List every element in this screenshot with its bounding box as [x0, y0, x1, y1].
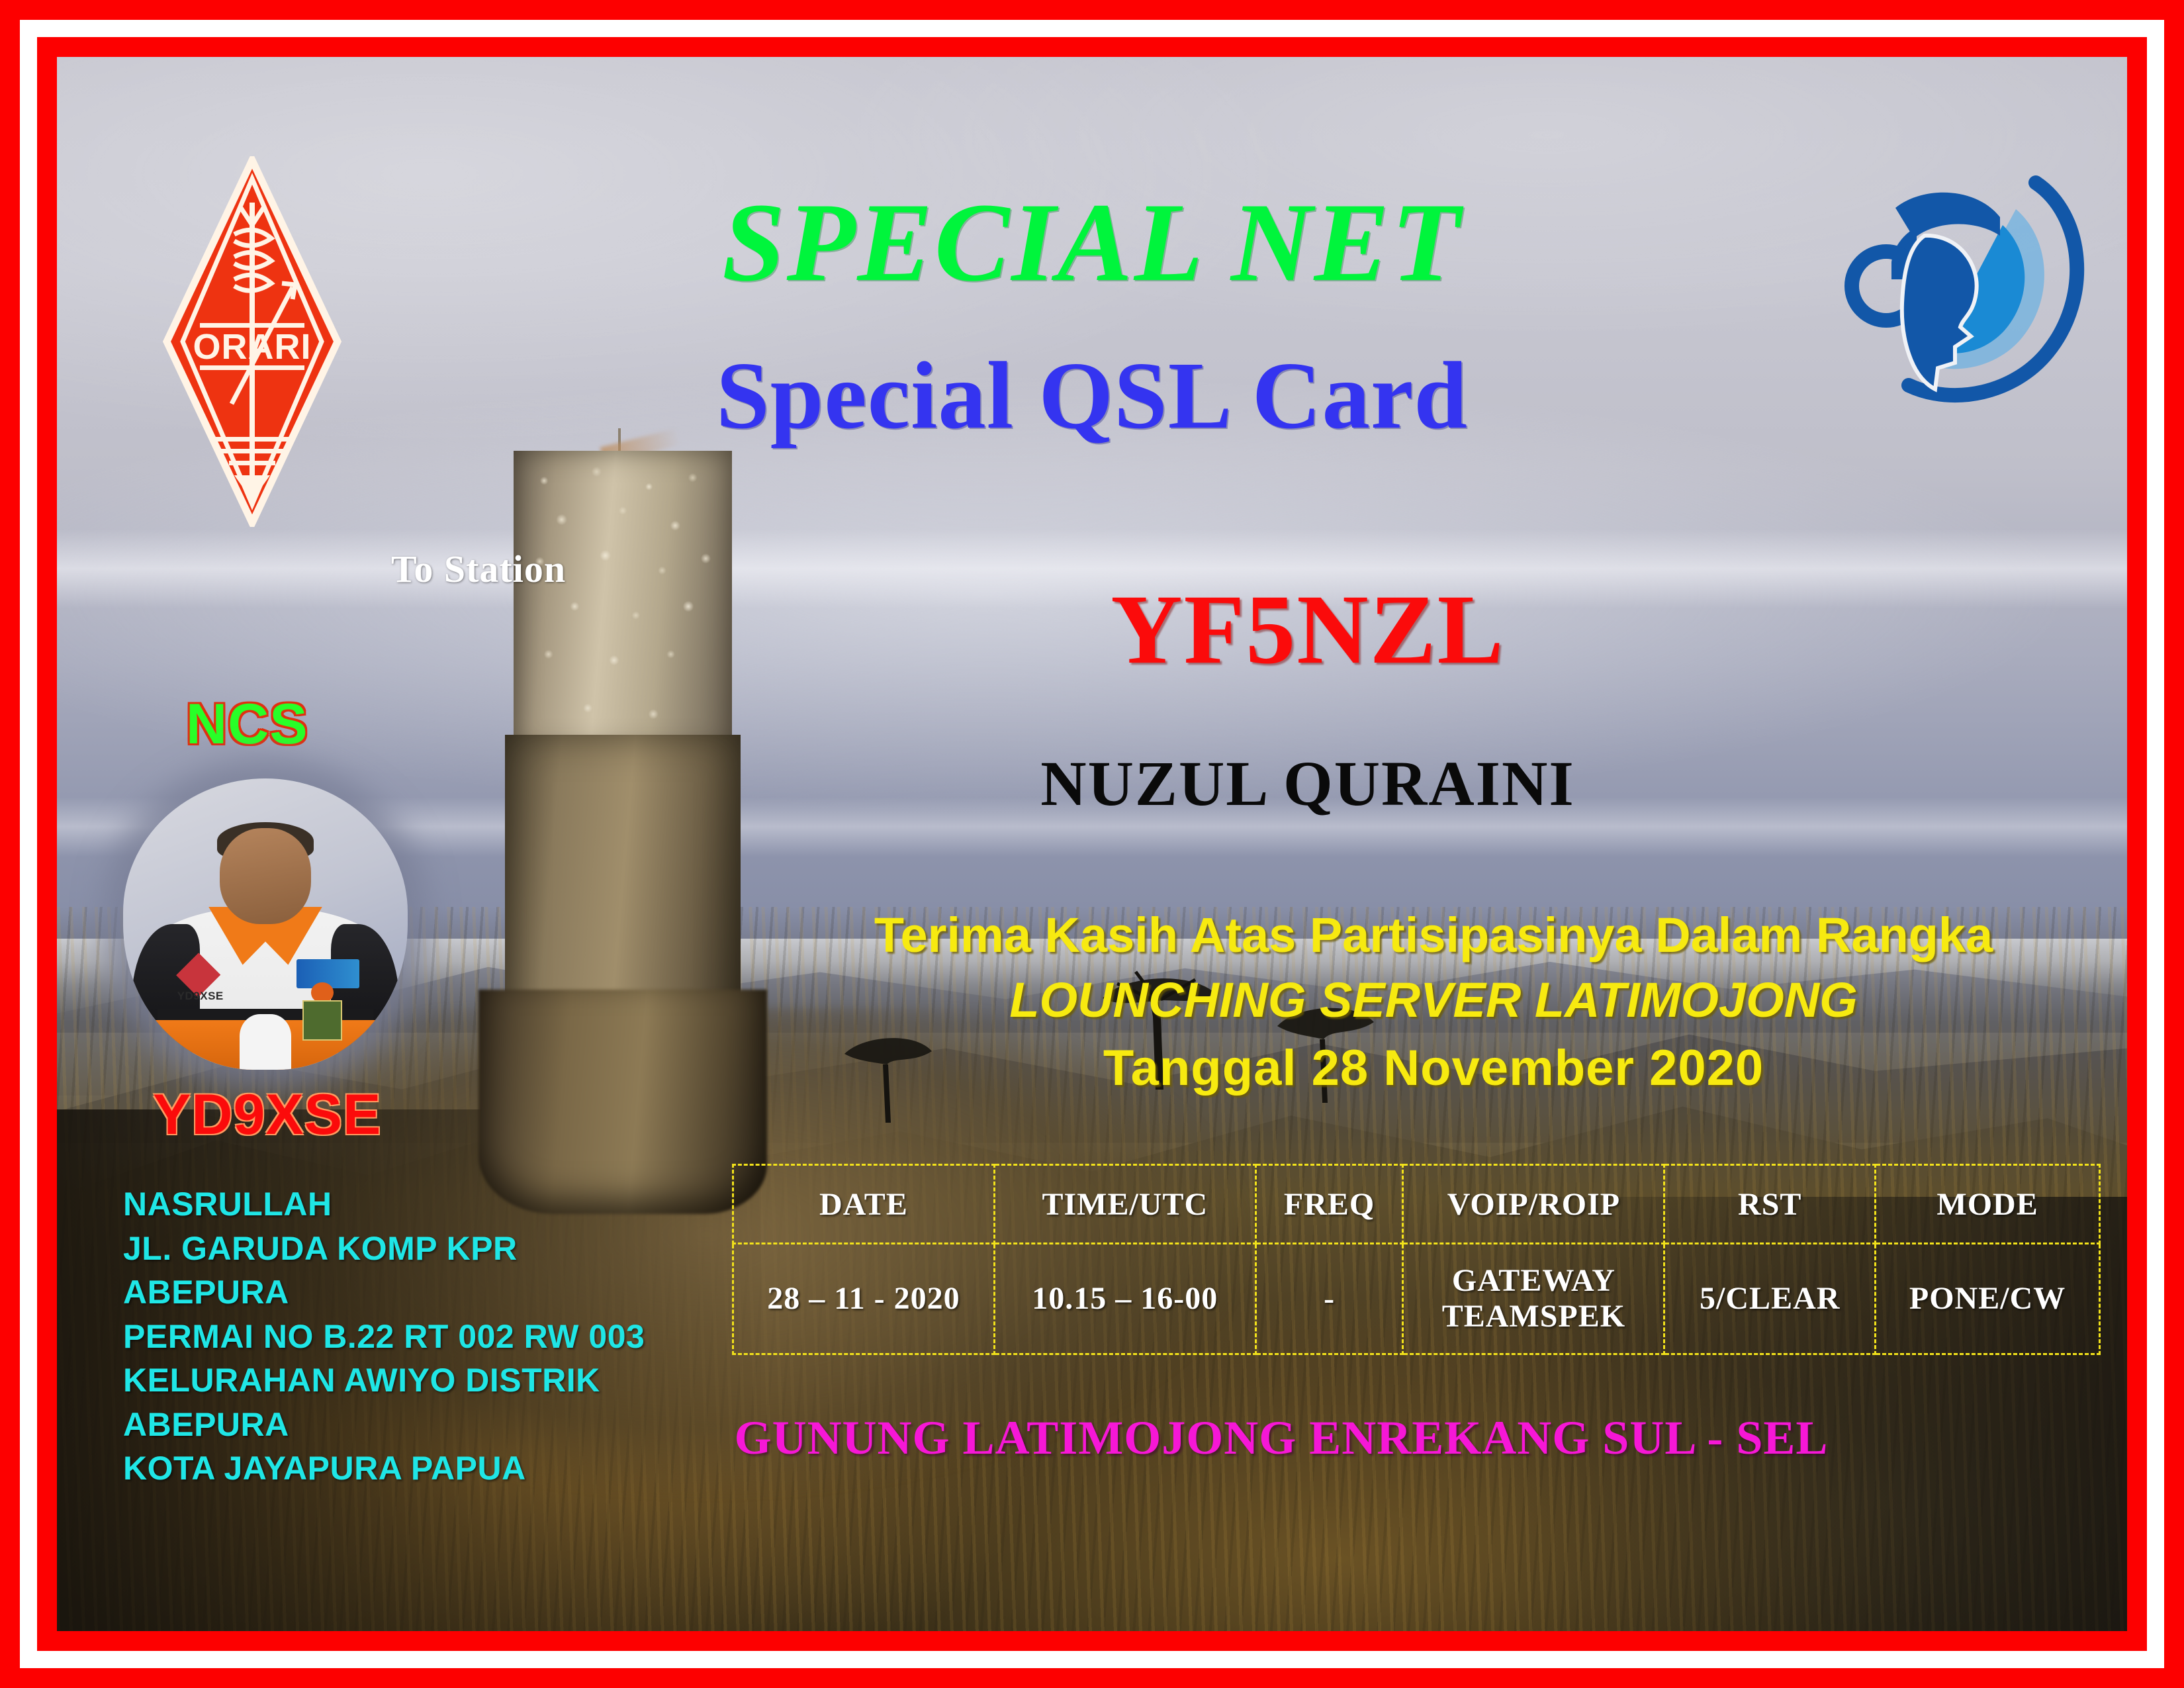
address-line: ABEPURA: [123, 1270, 645, 1315]
column-header-time: TIME/UTC: [994, 1165, 1255, 1244]
table-header-row: DATE TIME/UTC FREQ VOIP/ROIP RST MODE: [733, 1165, 2100, 1244]
qsl-card: ORARI SPECIAL NET Special QSL Card To St…: [0, 0, 2184, 1688]
operator-name: NUZUL QURAINI: [924, 752, 1692, 816]
card-photo-stage: ORARI SPECIAL NET Special QSL Card To St…: [57, 57, 2127, 1631]
to-station-label: To Station: [391, 547, 566, 591]
cell-date: 28 – 11 - 2020: [733, 1244, 995, 1354]
ncs-operator-photo: YD9XSE: [123, 778, 408, 1070]
photo-sash-knot: [240, 1014, 291, 1070]
cell-time: 10.15 – 16-00: [994, 1244, 1255, 1354]
address-line: ABEPURA: [123, 1403, 645, 1447]
column-header-voip: VOIP/ROIP: [1403, 1165, 1664, 1244]
address-line: KELURAHAN AWIYO DISTRIK: [123, 1358, 645, 1403]
pillar-stone-texture: [514, 451, 732, 750]
address-line: KOTA JAYAPURA PAPUA: [123, 1446, 645, 1491]
address-line: PERMAI NO B.22 RT 002 RW 003: [123, 1315, 645, 1359]
event-date-line: Tanggal 28 November 2020: [772, 1043, 2095, 1094]
cell-freq: -: [1255, 1244, 1403, 1354]
column-header-rst: RST: [1664, 1165, 1876, 1244]
pillar-base: [478, 990, 767, 1214]
cell-rst: 5/CLEAR: [1664, 1244, 1876, 1354]
qso-details-table: DATE TIME/UTC FREQ VOIP/ROIP RST MODE 28…: [732, 1164, 2101, 1355]
event-line: LOUNCHING SERVER LATIMOJONG: [772, 976, 2095, 1025]
callsign: YF5NZL: [924, 580, 1692, 679]
postal-address-block: NASRULLAH JL. GARUDA KOMP KPR ABEPURA PE…: [123, 1182, 645, 1491]
column-header-mode: MODE: [1876, 1165, 2100, 1244]
photo-id-card: [302, 1000, 342, 1041]
photo-face: [220, 828, 311, 924]
table-row: 28 – 11 - 2020 10.15 – 16-00 - GATEWAY T…: [733, 1244, 2100, 1354]
address-line: NASRULLAH: [123, 1182, 645, 1227]
ncs-label: NCS: [186, 696, 308, 753]
cell-mode: PONE/CW: [1876, 1244, 2100, 1354]
cell-voip: GATEWAY TEAMSPEK: [1403, 1244, 1664, 1354]
photo-uniform-callsign: YD9XSE: [177, 990, 224, 1003]
thanks-line: Terima Kasih Atas Partisipasinya Dalam R…: [772, 911, 2095, 960]
location-line: GUNUNG LATIMOJONG ENREKANG SUL - SEL: [653, 1414, 1910, 1462]
column-header-date: DATE: [733, 1165, 995, 1244]
ncs-callsign: YD9XSE: [153, 1086, 381, 1143]
column-header-freq: FREQ: [1255, 1165, 1403, 1244]
page-title: SPECIAL NET: [57, 186, 2127, 299]
page-subtitle: Special QSL Card: [57, 348, 2127, 444]
address-line: JL. GARUDA KOMP KPR: [123, 1227, 645, 1271]
